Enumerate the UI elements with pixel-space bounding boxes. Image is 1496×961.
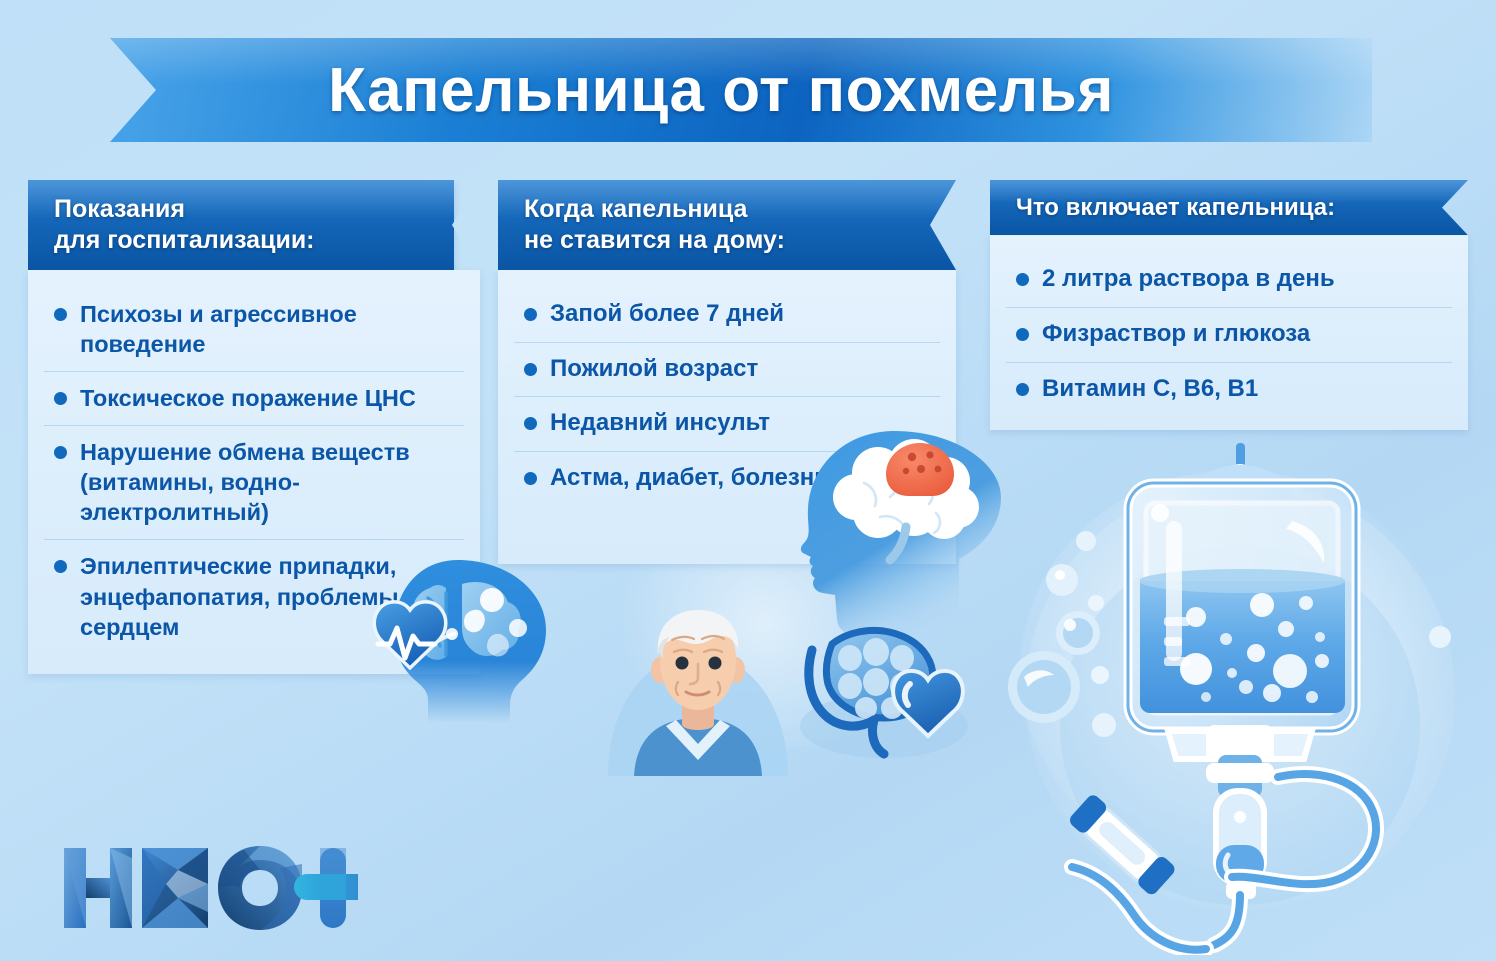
column-header-line: Когда капельница <box>524 194 938 225</box>
list-item: Нарушение обмена веществ (витамины, водн… <box>44 426 464 540</box>
column-contraindications: Когда капельница не ставится на дому: За… <box>498 180 956 564</box>
bullet-dot-icon <box>524 417 537 430</box>
column-body-contraindications: Запой более 7 дней Пожилой возраст Недав… <box>498 270 956 564</box>
list-item: Астма, диабет, болезни сердца <box>514 452 940 506</box>
background-blob-right <box>1020 470 1450 870</box>
list-item-label: Токсическое поражение ЦНС <box>80 383 416 413</box>
iv-drip-bag-icon <box>1000 425 1480 955</box>
column-header-indications: Показания для госпитализации: <box>28 180 454 270</box>
list-item-label: Физраствор и глюкоза <box>1042 319 1310 350</box>
list-item: Пожилой возраст <box>514 343 940 398</box>
list-item-label: Психозы и агрессивное поведение <box>80 299 460 359</box>
list-item: Психозы и агрессивное поведение <box>44 288 464 372</box>
bullet-dot-icon <box>54 560 67 573</box>
bullet-dot-icon <box>54 308 67 321</box>
column-header-contents: Что включает капельница: <box>990 180 1468 235</box>
list-item: 2 литра раствора в день <box>1006 253 1452 308</box>
list-item: Запой более 7 дней <box>514 288 940 343</box>
column-indications: Показания для госпитализации: Психозы и … <box>28 180 480 674</box>
list-item: Эпилептические припадки, энцефапопатия, … <box>44 540 464 653</box>
bullet-dot-icon <box>54 446 67 459</box>
list-item-label: Эпилептические припадки, энцефапопатия, … <box>80 551 460 641</box>
column-header-line: Показания <box>54 194 436 225</box>
column-body-indications: Психозы и агрессивное поведение Токсичес… <box>28 270 480 674</box>
column-contents: Что включает капельница: 2 литра раствор… <box>990 180 1468 430</box>
lungs-heart-icon <box>788 614 988 764</box>
list-item-label: Нарушение обмена веществ (витамины, водн… <box>80 437 460 527</box>
column-header-line: для госпитализации: <box>54 225 436 256</box>
list-item-label: Витамин C, B6, B1 <box>1042 374 1258 405</box>
bullet-dot-icon <box>1016 383 1029 396</box>
column-header-line: Что включает капельница: <box>1016 193 1450 222</box>
list-item-label: Запой более 7 дней <box>550 299 784 330</box>
page-title: Капельница от похмелья <box>328 55 1114 126</box>
column-header-contraindications: Когда капельница не ставится на дому: <box>498 180 956 270</box>
elderly-person-icon <box>598 596 798 776</box>
list-item-label: 2 литра раствора в день <box>1042 264 1335 295</box>
bullet-dot-icon <box>54 392 67 405</box>
title-banner: Капельница от похмелья <box>110 38 1372 142</box>
list-item-label: Астма, диабет, болезни сердца <box>550 463 920 494</box>
list-item: Физраствор и глюкоза <box>1006 308 1452 363</box>
column-header-line: не ставится на дому: <box>524 225 938 256</box>
bullet-dot-icon <box>524 308 537 321</box>
bullet-dot-icon <box>524 363 537 376</box>
list-item: Витамин C, B6, B1 <box>1006 363 1452 417</box>
bullet-dot-icon <box>1016 273 1029 286</box>
bullet-dot-icon <box>524 472 537 485</box>
list-item: Токсическое поражение ЦНС <box>44 372 464 426</box>
bullet-dot-icon <box>1016 328 1029 341</box>
list-item-label: Пожилой возраст <box>550 354 758 385</box>
list-item-label: Недавний инсульт <box>550 408 770 439</box>
list-item: Недавний инсульт <box>514 397 940 452</box>
neo-plus-logo <box>58 838 358 938</box>
column-body-contents: 2 литра раствора в день Физраствор и глю… <box>990 235 1468 430</box>
